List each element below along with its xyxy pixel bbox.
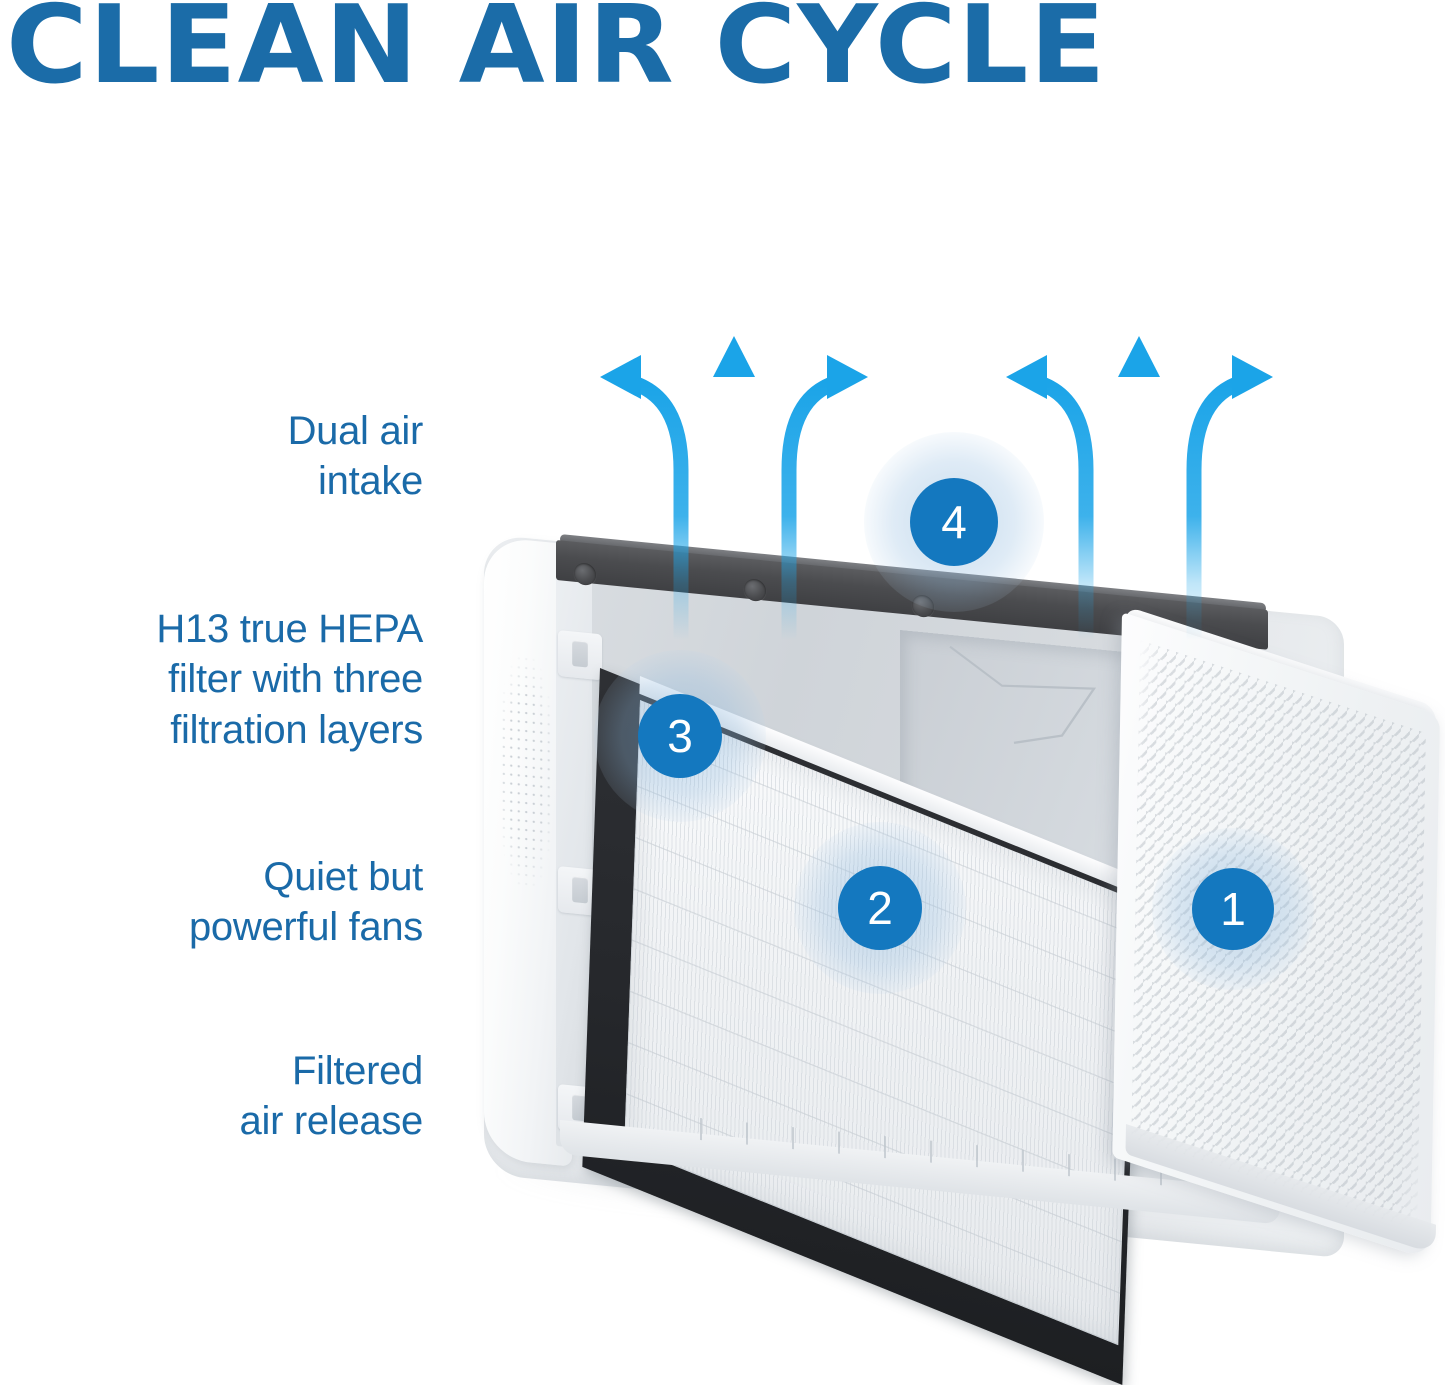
badge-1[interactable]: 1 — [1192, 868, 1274, 950]
badge-4[interactable]: 4 — [910, 478, 998, 566]
badge-3[interactable]: 3 — [638, 694, 722, 778]
badge-2[interactable]: 2 — [838, 866, 922, 950]
product-illustration: 4 3 2 1 — [0, 0, 1445, 1275]
side-vent-perforations — [500, 652, 552, 893]
clip-tab-top — [572, 640, 588, 668]
clip-tab-middle — [572, 876, 588, 904]
